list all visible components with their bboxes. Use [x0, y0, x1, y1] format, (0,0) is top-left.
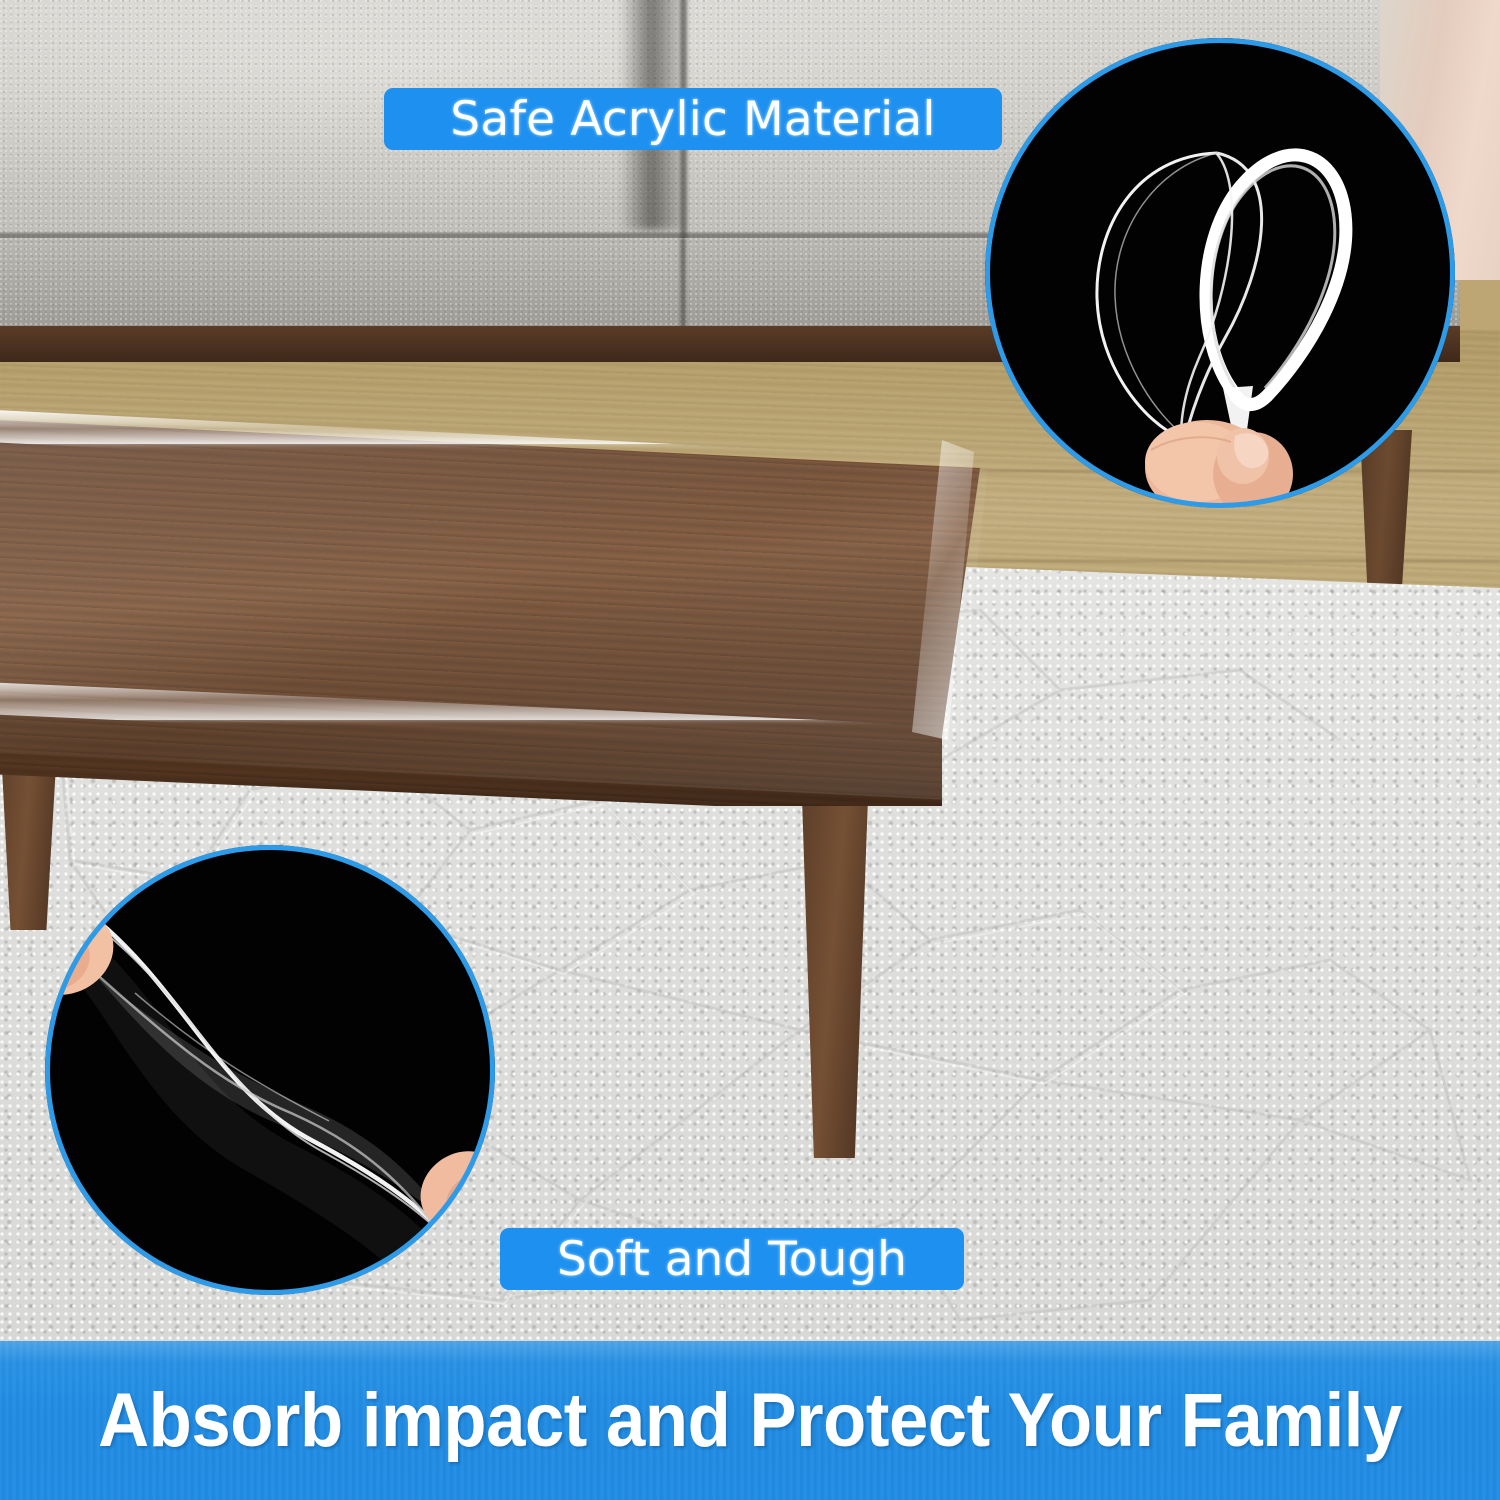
banner-soft-and-tough: Soft and Tough — [500, 1228, 964, 1290]
banner-absorb-impact: Absorb impact and Protect Your Family — [0, 1341, 1500, 1500]
skirt-seam — [680, 238, 686, 330]
table-leg-right — [802, 798, 868, 1158]
banner-absorb-impact-label: Absorb impact and Protect Your Family — [98, 1377, 1402, 1464]
acrylic-edge-guard-rear — [0, 410, 998, 444]
inset-soft-and-tough — [45, 845, 495, 1295]
flexible-strip-illustration — [45, 845, 495, 1295]
product-image: Safe Acrylic Material Soft and Tough Abs… — [0, 0, 1500, 1500]
inset-safe-acrylic-material — [985, 38, 1455, 508]
acrylic-loops-illustration — [985, 38, 1455, 508]
banner-safe-acrylic-material: Safe Acrylic Material — [384, 88, 1002, 150]
